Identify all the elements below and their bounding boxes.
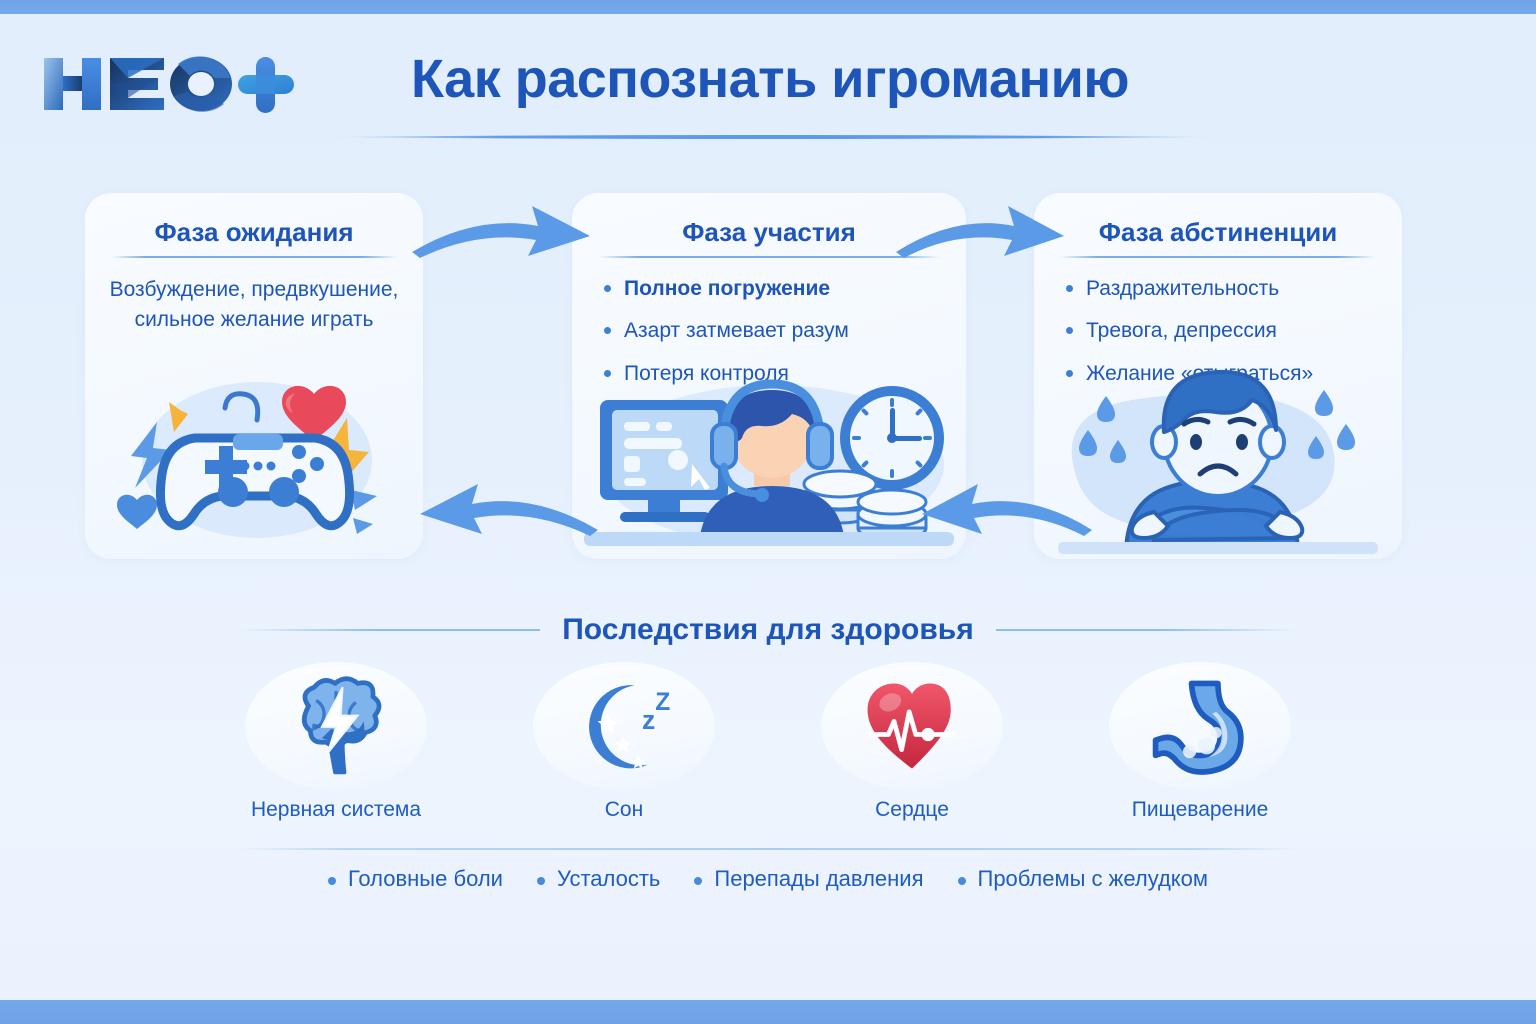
title-underline [318,128,1224,136]
symptoms-divider [238,848,1298,850]
health-icons-row: Нервная система z Z Сон [232,662,1304,822]
health-item-heart[interactable]: Сердце [808,662,1016,822]
health-label: Сон [520,798,728,822]
phase-card-description: Возбуждение, предвкушение, сильное желан… [103,275,405,335]
brain-lightning-icon [284,674,388,778]
symptom-item: Проблемы с желудком [958,866,1209,892]
symptom-item: Перепады давления [694,866,923,892]
section-title: Последствия для здоровья [562,613,974,647]
icon-blob [245,662,427,790]
arrow-phase1-to-phase2-icon [406,196,596,266]
gamer-monitor-clock-coins-icon [572,360,966,555]
arrow-phase3-to-phase2-icon [912,478,1098,544]
list-item: Тревога, депрессия [1064,317,1386,344]
health-item-sleep[interactable]: z Z Сон [520,662,728,822]
list-item: Азарт затмевает разум [602,317,950,344]
health-label: Нервная система [232,798,440,822]
phase-card-title: Фаза абстиненции [1034,217,1402,248]
health-item-digestion[interactable]: Пищеварение [1096,662,1304,822]
card-divider [1060,256,1376,258]
list-item: Раздражительность [1064,275,1386,302]
card-divider [598,256,940,258]
neo-plus-logo [38,48,298,120]
page-title: Как распознать игроманию [340,48,1200,110]
health-label: Пищеварение [1096,798,1304,822]
section-rule-left [240,629,540,631]
icon-blob [821,662,1003,790]
section-rule-right [996,629,1296,631]
arrow-phase2-to-phase3-icon [890,196,1070,266]
svg-text:Z: Z [655,689,670,716]
phase-card-waiting[interactable]: Фаза ожидания Возбуждение, предвкушение,… [85,193,423,559]
health-item-nervous-system[interactable]: Нервная система [232,662,440,822]
symptoms-row: Головные боли Усталость Перепады давлени… [0,866,1536,892]
phase-card-title: Фаза ожидания [85,217,423,248]
health-section-header: Последствия для здоровья [0,608,1536,652]
arrow-phase2-to-phase1-icon [408,478,604,544]
moon-zzz-icon: z Z [572,674,676,778]
svg-text:z: z [642,705,655,735]
bottom-border-band [0,1000,1536,1024]
list-item: Полное погружение [602,275,950,302]
icon-blob: z Z [533,662,715,790]
symptom-item: Головные боли [328,866,503,892]
symptom-item: Усталость [537,866,660,892]
card-divider [111,256,397,258]
icon-blob [1109,662,1291,790]
heart-ecg-icon [860,674,964,778]
gamepad-heart-icon [85,360,423,555]
top-border-band [0,0,1536,14]
infographic-poster: Как распознать игроманию Фаза ожидания В… [0,0,1536,1024]
health-label: Сердце [808,798,1016,822]
stomach-icon [1148,674,1252,778]
